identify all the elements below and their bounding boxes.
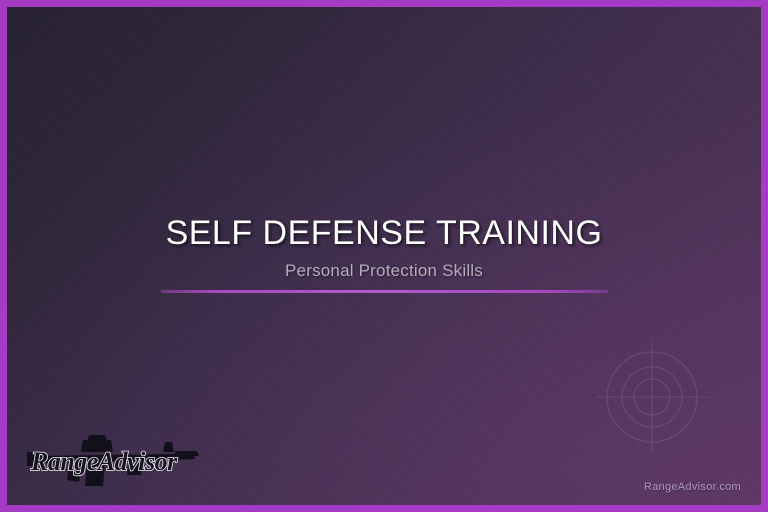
target-ring-inner bbox=[634, 379, 670, 415]
presentation-slide: SELF DEFENSE TRAINING Personal Protectio… bbox=[0, 0, 768, 512]
brand-logo[interactable]: RangeAdvisor bbox=[25, 430, 203, 492]
page-subtitle: Personal Protection Skills bbox=[7, 261, 761, 281]
slide-canvas: SELF DEFENSE TRAINING Personal Protectio… bbox=[7, 7, 761, 505]
crosshair-target-icon bbox=[596, 341, 708, 453]
title-divider bbox=[161, 290, 608, 293]
target-ring-outer bbox=[607, 352, 697, 442]
site-watermark: RangeAdvisor.com bbox=[644, 481, 741, 493]
target-ring-middle bbox=[622, 367, 682, 427]
title-block: SELF DEFENSE TRAINING Personal Protectio… bbox=[7, 213, 761, 281]
brand-logo-text: RangeAdvisor bbox=[30, 447, 178, 476]
page-title: SELF DEFENSE TRAINING bbox=[7, 213, 761, 253]
